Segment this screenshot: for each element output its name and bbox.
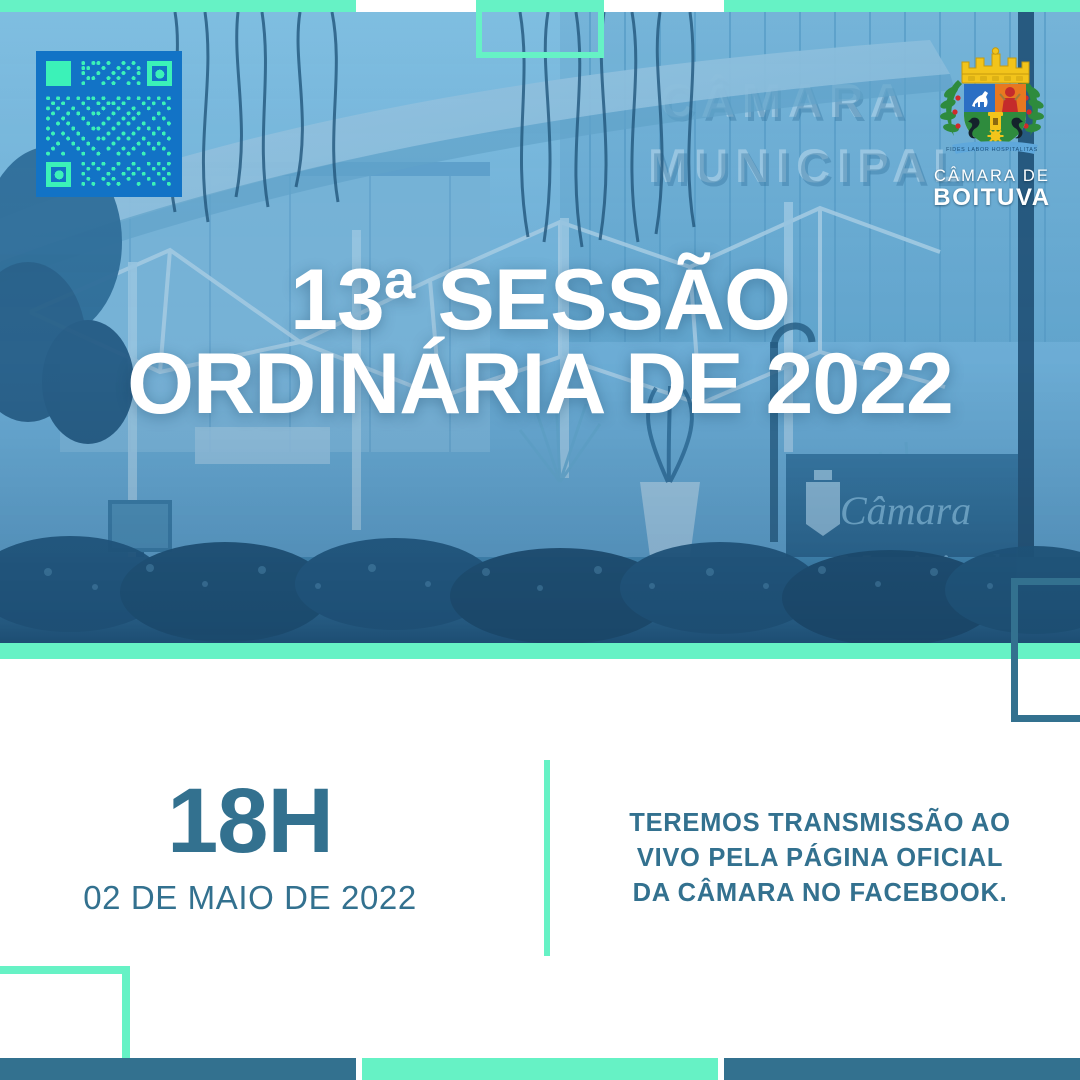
qr-code-icon[interactable]	[36, 51, 182, 197]
page-title-line-2: ORDINÁRIA DE 2022	[0, 342, 1080, 426]
broadcast-notice-line-3: DA CÂMARA NO FACEBOOK.	[600, 876, 1040, 911]
session-date: 02 DE MAIO DE 2022	[0, 879, 500, 917]
broadcast-notice-line-2: VIVO PELA PÁGINA OFICIAL	[600, 841, 1040, 876]
page-title: 13ª SESSÃO ORDINÁRIA DE 2022	[0, 258, 1080, 427]
brand-line-1: CÂMARA DE	[922, 168, 1062, 185]
crest-motto: FIDES LABOR HOSPITALITAS	[946, 147, 1038, 153]
session-time: 18H	[0, 778, 500, 865]
bottom-border-segment-left	[0, 1058, 356, 1080]
brand-block: FIDES LABOR HOSPITALITAS CÂMARA DE BOITU…	[922, 44, 1062, 211]
broadcast-notice-line-1: TEREMOS TRANSMISSÃO AO	[600, 806, 1040, 841]
coat-of-arms-icon: FIDES LABOR HOSPITALITAS	[922, 44, 1062, 164]
top-border-segment-right	[724, 0, 1080, 12]
top-accent-rectangle	[476, 0, 604, 58]
session-time-block: 18H 02 DE MAIO DE 2022	[0, 778, 500, 917]
page-title-line-1: 13ª SESSÃO	[0, 258, 1080, 342]
green-divider-band	[0, 643, 1080, 659]
brand-line-2: BOITUVA	[922, 185, 1062, 210]
bottom-border-segment-right	[724, 1058, 1080, 1080]
right-accent-rectangle	[1011, 578, 1080, 722]
bottom-border-segment-center	[362, 1058, 718, 1080]
top-border-segment-left	[0, 0, 356, 12]
vertical-divider	[544, 760, 550, 956]
qr-code-modules	[36, 51, 182, 197]
poster-canvas: CÂMARA MUNICIPAL CÂMARA MUNICIPAL	[0, 0, 1080, 1080]
broadcast-notice: TEREMOS TRANSMISSÃO AO VIVO PELA PÁGINA …	[600, 806, 1040, 912]
